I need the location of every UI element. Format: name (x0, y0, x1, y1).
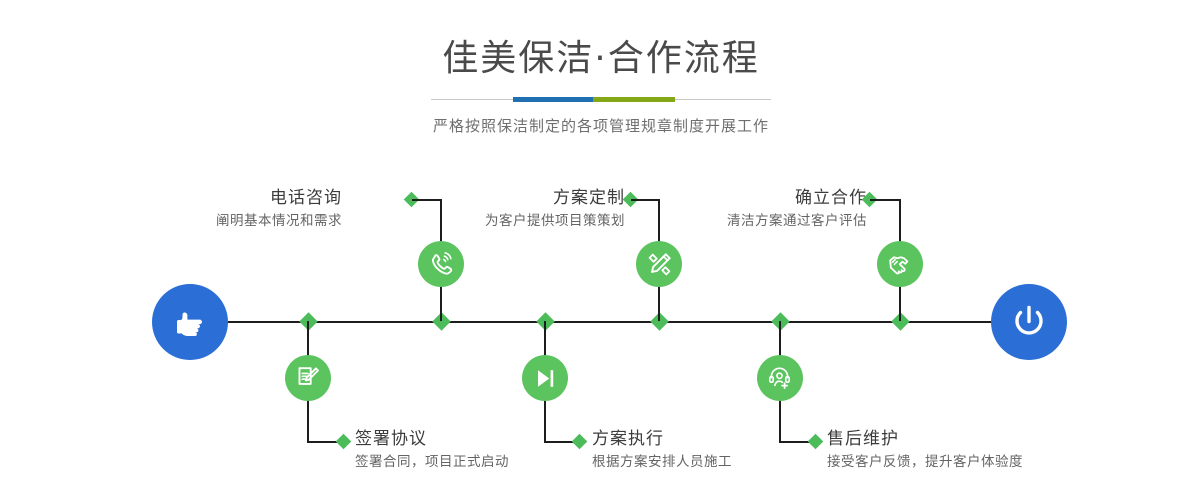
step-node-2[interactable] (285, 355, 331, 401)
timeline-axis (155, 321, 1047, 323)
step-node-1[interactable] (418, 241, 464, 287)
process-flow-infographic: 佳美保洁·合作流程 严格按照保洁制定的各项管理规章制度开展工作 (0, 0, 1202, 502)
step-title-6: 售后维护 (827, 429, 1023, 450)
step-node-5[interactable] (877, 241, 923, 287)
step-title-2: 签署协议 (355, 429, 509, 450)
pointing-hand-icon (170, 302, 210, 342)
step-connector-h-1 (412, 199, 442, 201)
step-title-4: 方案执行 (592, 429, 732, 450)
step-connector-h-5 (870, 199, 901, 201)
customer-support-add-icon (767, 365, 793, 391)
step-diamond-2 (336, 434, 352, 450)
step-label-4: 方案执行 根据方案安排人员施工 (592, 429, 732, 472)
power-icon (1008, 301, 1050, 343)
step-label-1: 电话咨询 阐明基本情况和需求 (216, 188, 342, 231)
flow-end-endpoint[interactable] (991, 284, 1067, 360)
document-edit-icon (295, 365, 321, 391)
step-desc-1: 阐明基本情况和需求 (216, 212, 342, 231)
step-desc-5: 清洁方案通过客户评估 (727, 212, 867, 231)
step-desc-6: 接受客户反馈，提升客户体验度 (827, 453, 1023, 472)
pencil-ruler-icon (646, 251, 673, 278)
step-title-3: 方案定制 (485, 188, 625, 209)
step-title-1: 电话咨询 (216, 188, 342, 209)
step-connector-h-3 (631, 199, 660, 201)
step-label-5: 确立合作 清洁方案通过客户评估 (727, 188, 867, 231)
step-diamond-4 (572, 434, 588, 450)
step-node-4[interactable] (522, 355, 568, 401)
step-node-3[interactable] (636, 241, 682, 287)
flow-start-endpoint[interactable] (152, 284, 228, 360)
timeline: 电话咨询 阐明基本情况和需求 (0, 0, 1202, 502)
step-desc-4: 根据方案安排人员施工 (592, 453, 732, 472)
step-desc-3: 为客户提供项目策策划 (485, 212, 625, 231)
step-desc-2: 签署合同，项目正式启动 (355, 453, 509, 472)
step-label-3: 方案定制 为客户提供项目策策划 (485, 188, 625, 231)
handshake-icon (887, 251, 914, 278)
step-diamond-6 (808, 434, 824, 450)
step-title-5: 确立合作 (727, 188, 867, 209)
play-forward-icon (533, 366, 558, 391)
phone-call-icon (428, 251, 455, 278)
step-label-2: 签署协议 签署合同，项目正式启动 (355, 429, 509, 472)
step-label-6: 售后维护 接受客户反馈，提升客户体验度 (827, 429, 1023, 472)
step-node-6[interactable] (757, 355, 803, 401)
